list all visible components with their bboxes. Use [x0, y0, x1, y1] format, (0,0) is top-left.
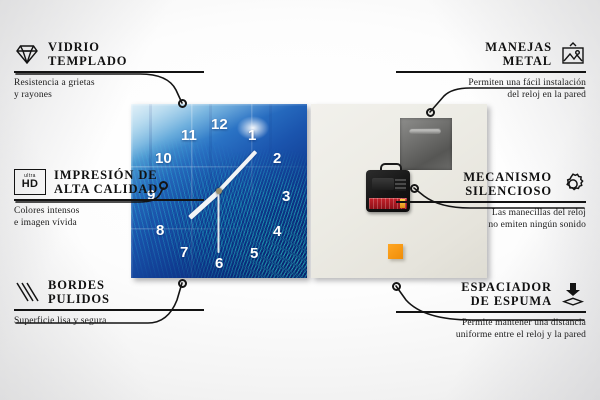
- feature-title: VIDRIOTEMPLADO: [48, 40, 127, 68]
- feature-divider: [396, 311, 586, 313]
- feature-divider: [14, 199, 204, 201]
- feature-mecanismo-silencioso: MECANISMOSILENCIOSO Las manecillas del r…: [396, 170, 586, 231]
- infographic-canvas: 12 1 2 3 4 5 6 7 8 9 10 11: [0, 0, 600, 400]
- diamond-icon: [14, 41, 40, 67]
- feature-description: Resistencia a grietasy rayones: [14, 77, 204, 102]
- anchor-dot-manejas: [426, 108, 435, 117]
- ultra-hd-large-label: HD: [22, 179, 39, 190]
- gear-icon: [560, 171, 586, 197]
- feature-divider: [14, 71, 204, 73]
- feature-bordes-pulidos: BORDESPULIDOS Superficie lisa y segura: [14, 278, 204, 327]
- feature-divider: [396, 71, 586, 73]
- feature-header: VIDRIOTEMPLADO: [14, 40, 204, 68]
- feature-header: BORDESPULIDOS: [14, 278, 204, 306]
- feature-header: ultra HD IMPRESIÓN DEALTA CALIDAD: [14, 168, 204, 196]
- feature-espaciador-de-espuma: ESPACIADORDE ESPUMA Permite mantener una…: [396, 280, 586, 341]
- ultra-hd-icon: ultra HD: [14, 169, 46, 195]
- feature-divider: [14, 309, 204, 311]
- feature-vidrio-templado: VIDRIOTEMPLADO Resistencia a grietasy ra…: [14, 40, 204, 101]
- feature-header: MECANISMOSILENCIOSO: [396, 170, 586, 198]
- picture-frame-icon: [560, 41, 586, 67]
- feature-divider: [396, 201, 586, 203]
- feature-description: Las manecillas del relojno emiten ningún…: [396, 207, 586, 232]
- feature-header: ESPACIADORDE ESPUMA: [396, 280, 586, 308]
- feature-description: Superficie lisa y segura: [14, 315, 204, 327]
- feature-description: Colores intensose imagen vívida: [14, 205, 204, 230]
- feature-header: MANEJASMETAL: [396, 40, 586, 68]
- feature-description: Permiten una fácil instalacióndel reloj …: [396, 77, 586, 102]
- feature-title: IMPRESIÓN DEALTA CALIDAD: [54, 168, 158, 196]
- feature-title: BORDESPULIDOS: [48, 278, 110, 306]
- download-layers-icon: [560, 281, 586, 307]
- diagonal-lines-icon: [14, 279, 40, 305]
- feature-title: MANEJASMETAL: [485, 40, 552, 68]
- feature-title: ESPACIADORDE ESPUMA: [461, 280, 552, 308]
- feature-impresion-alta-calidad: ultra HD IMPRESIÓN DEALTA CALIDAD Colore…: [14, 168, 204, 229]
- feature-manejas-metal: MANEJASMETAL Permiten una fácil instalac…: [396, 40, 586, 101]
- feature-title: MECANISMOSILENCIOSO: [463, 170, 552, 198]
- feature-description: Permite mantener una distanciauniforme e…: [396, 317, 586, 342]
